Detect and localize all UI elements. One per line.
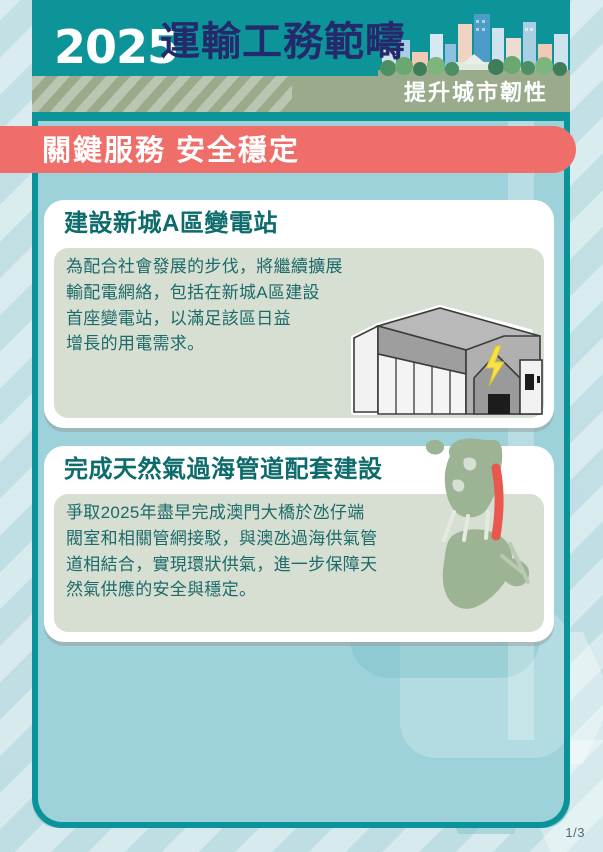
infographic-poster: 2025 運輸工務範疇 提升城市韌性 關鍵服務 安全穩定 <box>0 0 603 852</box>
poster-header: 2025 運輸工務範疇 提升城市韌性 <box>32 0 570 121</box>
green-band-stripes <box>32 76 292 112</box>
card-1-text: 為配合社會發展的步伐，將繼續擴展 輸配電網絡，包括在新城A區建設 首座變電站，以… <box>66 254 416 357</box>
city-skyline-icon <box>378 4 570 86</box>
card-2-text: 爭取2025年盡早完成澳門大橋於氹仔端 閥室和相關管網接駁，與澳氹過海供氣管 道… <box>66 500 416 603</box>
content-card-2: 完成天然氣過海管道配套建設 爭取2025年盡早完成澳門大橋於氹仔端 閥室和相關管… <box>44 446 554 642</box>
page-subtitle: 提升城市韌性 <box>404 80 548 106</box>
section-banner-label: 關鍵服務 安全穩定 <box>42 134 300 169</box>
content-card-1: 建設新城A區變電站 為配合社會發展的步伐，將繼續擴展 輸配電網絡，包括在新城A區… <box>44 200 554 428</box>
macau-map-illustration <box>410 432 540 622</box>
page-title: 運輸工務範疇 <box>160 22 406 62</box>
card-2-title: 完成天然氣過海管道配套建設 <box>64 456 383 485</box>
card-1-title: 建設新城A區變電站 <box>64 210 278 239</box>
page-indicator: 1/3 <box>565 825 585 840</box>
